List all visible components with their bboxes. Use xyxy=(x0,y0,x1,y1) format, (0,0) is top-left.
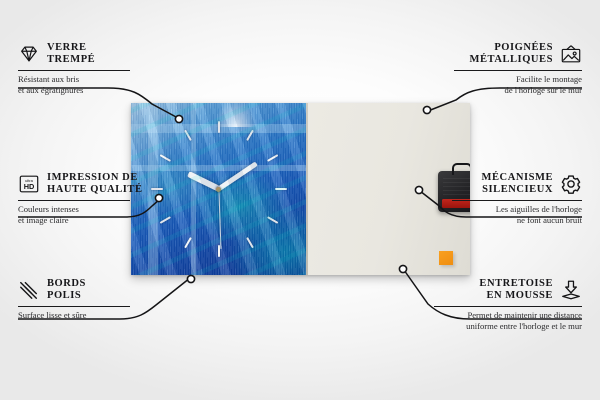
diamond-icon xyxy=(18,43,40,65)
callout-header: MÉCANISME SILENCIEUX xyxy=(452,172,582,197)
callout-subtitle: Facilite le montage xyxy=(454,74,582,85)
title-underline xyxy=(18,70,130,71)
clock-front-face xyxy=(131,103,306,275)
hand-pin xyxy=(216,187,221,192)
connector-endpoint xyxy=(187,275,194,282)
callout-header: ENTRETOISE EN MOUSSE xyxy=(434,278,582,303)
pattern-band xyxy=(131,124,306,133)
callout-header: VERRE TREMPÉ xyxy=(18,42,130,67)
callout-header: BORDS POLIS xyxy=(18,278,130,303)
callout-title: VERRE TREMPÉ xyxy=(47,42,95,67)
callout-verre-trempe[interactable]: VERRE TREMPÉ Résistant aux bris et aux é… xyxy=(18,42,130,96)
title-underline xyxy=(18,306,130,307)
callout-subtitle: et image claire xyxy=(18,215,130,226)
panel-edge xyxy=(306,103,308,275)
callout-title: IMPRESSION DE HAUTE QUALITÉ xyxy=(47,172,143,197)
clock-back-panel xyxy=(306,103,470,275)
svg-text:HD: HD xyxy=(24,183,35,192)
title-underline xyxy=(454,70,582,71)
title-underline xyxy=(434,306,582,307)
callout-bords-polis[interactable]: BORDS POLIS Surface lisse et sûre xyxy=(18,278,130,321)
ultra-hd-icon: ultra HD xyxy=(18,173,40,195)
pattern-band xyxy=(131,165,306,171)
callout-header: POIGNÉES MÉTALLIQUES xyxy=(454,42,582,67)
second-hand xyxy=(218,189,221,249)
arrow-down-layer-icon xyxy=(560,279,582,301)
pattern-band xyxy=(191,103,196,275)
callout-subtitle: Couleurs intenses xyxy=(18,204,130,215)
callout-subtitle: Résistant aux bris xyxy=(18,74,130,85)
callout-poignees-metalliques[interactable]: POIGNÉES MÉTALLIQUES Facilite le montage… xyxy=(454,42,582,96)
product-photo xyxy=(131,103,470,275)
clock-hands xyxy=(131,103,306,275)
hour-hand xyxy=(187,172,220,192)
callout-subtitle: de l'horloge sur le mur xyxy=(454,85,582,96)
callout-title: BORDS POLIS xyxy=(47,278,86,303)
callout-title: POIGNÉES MÉTALLIQUES xyxy=(470,42,553,67)
callout-title: ENTRETOISE EN MOUSSE xyxy=(479,278,553,303)
callout-impression-haute-qualite[interactable]: ultra HD IMPRESSION DE HAUTE QUALITÉ Cou… xyxy=(18,172,130,226)
pattern-band xyxy=(148,103,158,275)
gear-icon xyxy=(560,173,582,195)
title-underline xyxy=(452,200,582,201)
callout-subtitle: Surface lisse et sûre xyxy=(18,310,130,321)
minute-hand xyxy=(217,161,258,190)
callout-subtitle: ne font aucun bruit xyxy=(452,215,582,226)
callout-mecanisme-silencieux[interactable]: MÉCANISME SILENCIEUX Les aiguilles de l'… xyxy=(452,172,582,226)
callout-title: MÉCANISME SILENCIEUX xyxy=(482,172,553,197)
title-underline xyxy=(18,200,130,201)
callout-entretoise-en-mousse[interactable]: ENTRETOISE EN MOUSSE Permet de maintenir… xyxy=(434,278,582,332)
picture-hanger-icon xyxy=(560,43,582,65)
callout-subtitle: Les aiguilles de l'horloge xyxy=(452,204,582,215)
callout-subtitle: uniforme entre l'horloge et le mur xyxy=(434,321,582,332)
diagonal-lines-icon xyxy=(18,279,40,301)
callout-header: ultra HD IMPRESSION DE HAUTE QUALITÉ xyxy=(18,172,130,197)
infographic-canvas: VERRE TREMPÉ Résistant aux bris et aux é… xyxy=(0,0,600,400)
clock-tick-marks xyxy=(131,103,306,275)
callout-subtitle: Permet de maintenir une distance xyxy=(434,310,582,321)
callout-subtitle: et aux égratignures xyxy=(18,85,130,96)
foam-spacer xyxy=(439,251,453,265)
highlight-glow xyxy=(215,103,257,127)
